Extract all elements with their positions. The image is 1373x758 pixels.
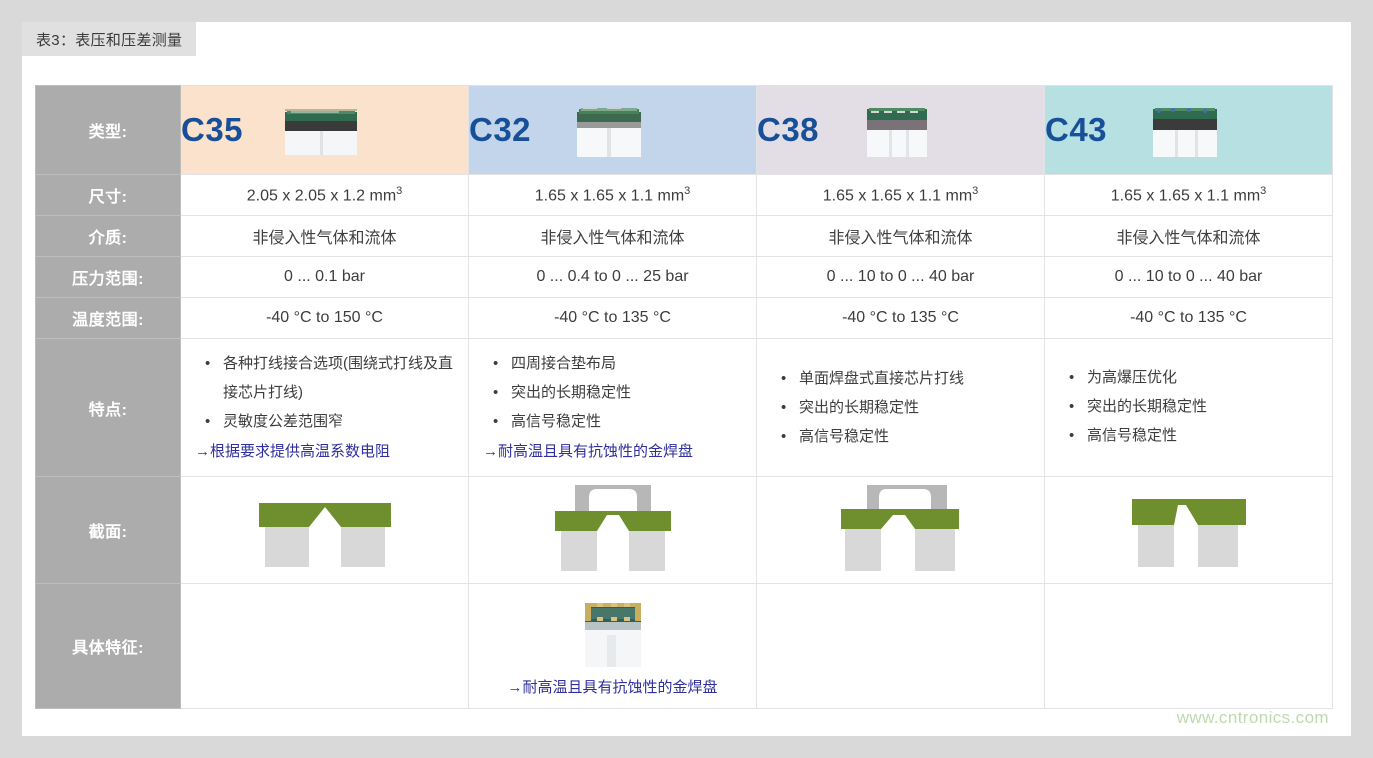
cell-pressure-c32: 0 ... 0.4 to 0 ... 25 bar xyxy=(469,257,757,298)
cell-cross-section-c32 xyxy=(469,477,757,584)
cell-size-c35: 2.05 x 2.05 x 1.2 mm3 xyxy=(181,175,469,216)
table-row-pressure: 压力范围: 0 ... 0.1 bar 0 ... 0.4 to 0 ... 2… xyxy=(36,257,1333,298)
row-label-specific: 具体特征: xyxy=(36,584,181,709)
header-cell-c38[interactable]: C38 xyxy=(757,86,1045,175)
list-item: 灵敏度公差范围窄 xyxy=(219,407,460,436)
row-label-temperature: 温度范围: xyxy=(36,298,181,339)
cell-features-c38: 单面焊盘式直接芯片打线 突出的长期稳定性 高信号稳定性 xyxy=(757,339,1045,477)
header-cell-c32[interactable]: C32 xyxy=(469,86,757,175)
list-item: 各种打线接合选项(围绕式打线及直接芯片打线) xyxy=(219,349,460,407)
list-item: 高信号稳定性 xyxy=(1083,421,1324,450)
row-label-features: 特点: xyxy=(36,339,181,477)
c43-sensor-photo xyxy=(1139,99,1231,161)
size-value-c32: 1.65 x 1.65 x 1.1 mm xyxy=(535,187,684,204)
table-row-type: 类型: C35 xyxy=(36,86,1333,175)
list-item: 突出的长期稳定性 xyxy=(507,378,748,407)
table-row-cross-section: 截面: xyxy=(36,477,1333,584)
type-name-c35: C35 xyxy=(181,111,243,149)
row-label-size: 尺寸: xyxy=(36,175,181,216)
cell-features-c43: 为高爆压优化 突出的长期稳定性 高信号稳定性 xyxy=(1045,339,1333,477)
feature-list-c32: 四周接合垫布局 突出的长期稳定性 高信号稳定性 xyxy=(493,349,748,436)
cell-pressure-c35: 0 ... 0.1 bar xyxy=(181,257,469,298)
list-item: 高信号稳定性 xyxy=(795,422,1036,451)
size-sup-c35: 3 xyxy=(396,185,402,197)
size-sup-c32: 3 xyxy=(684,185,690,197)
c32-cross-section-diagram xyxy=(543,485,683,576)
feature-note-c35: →根据要求提供高温系数电阻 xyxy=(195,438,460,466)
row-label-cross-section: 截面: xyxy=(36,477,181,584)
list-item: 突出的长期稳定性 xyxy=(795,393,1036,422)
cell-features-c35: 各种打线接合选项(围绕式打线及直接芯片打线) 灵敏度公差范围窄 →根据要求提供高… xyxy=(181,339,469,477)
cell-pressure-c43: 0 ... 10 to 0 ... 40 bar xyxy=(1045,257,1333,298)
table-caption-text: 表3：表压和压差测量 xyxy=(36,29,182,50)
cell-specific-c35 xyxy=(181,584,469,709)
row-label-pressure: 压力范围: xyxy=(36,257,181,298)
c38-cross-section-diagram xyxy=(831,485,971,576)
cell-cross-section-c38 xyxy=(757,477,1045,584)
cell-media-c35: 非侵入性气体和流体 xyxy=(181,216,469,257)
size-sup-c38: 3 xyxy=(972,185,978,197)
size-value-c38: 1.65 x 1.65 x 1.1 mm xyxy=(823,187,972,204)
table-page-card: 表3：表压和压差测量 类型: C35 xyxy=(22,22,1351,736)
feature-note-c32: →耐高温且具有抗蚀性的金焊盘 xyxy=(483,438,748,466)
c35-sensor-photo xyxy=(275,99,367,161)
list-item: 为高爆压优化 xyxy=(1083,363,1324,392)
cell-features-c32: 四周接合垫布局 突出的长期稳定性 高信号稳定性 →耐高温且具有抗蚀性的金焊盘 xyxy=(469,339,757,477)
c32-sensor-photo xyxy=(563,99,655,161)
c32-gold-pad-photo xyxy=(567,595,659,674)
list-item: 四周接合垫布局 xyxy=(507,349,748,378)
table-row-features: 特点: 各种打线接合选项(围绕式打线及直接芯片打线) 灵敏度公差范围窄 →根据要… xyxy=(36,339,1333,477)
size-value-c35: 2.05 x 2.05 x 1.2 mm xyxy=(247,187,396,204)
list-item: 突出的长期稳定性 xyxy=(1083,392,1324,421)
cell-temperature-c38: -40 °C to 135 °C xyxy=(757,298,1045,339)
c43-cross-section-diagram xyxy=(1124,489,1254,572)
c38-sensor-photo xyxy=(851,99,943,161)
header-cell-c35[interactable]: C35 xyxy=(181,86,469,175)
size-sup-c43: 3 xyxy=(1260,185,1266,197)
cell-temperature-c43: -40 °C to 135 °C xyxy=(1045,298,1333,339)
size-value-c43: 1.65 x 1.65 x 1.1 mm xyxy=(1111,187,1260,204)
cell-temperature-c32: -40 °C to 135 °C xyxy=(469,298,757,339)
cell-cross-section-c35 xyxy=(181,477,469,584)
row-label-media: 介质: xyxy=(36,216,181,257)
specific-note-c32: →耐高温且具有抗蚀性的金焊盘 xyxy=(473,676,752,697)
cell-media-c32: 非侵入性气体和流体 xyxy=(469,216,757,257)
cell-size-c43: 1.65 x 1.65 x 1.1 mm3 xyxy=(1045,175,1333,216)
header-cell-c43[interactable]: C43 xyxy=(1045,86,1333,175)
table-row-size: 尺寸: 2.05 x 2.05 x 1.2 mm3 1.65 x 1.65 x … xyxy=(36,175,1333,216)
table-row-media: 介质: 非侵入性气体和流体 非侵入性气体和流体 非侵入性气体和流体 非侵入性气体… xyxy=(36,216,1333,257)
feature-list-c43: 为高爆压优化 突出的长期稳定性 高信号稳定性 xyxy=(1069,363,1324,450)
cell-media-c43: 非侵入性气体和流体 xyxy=(1045,216,1333,257)
list-item: 单面焊盘式直接芯片打线 xyxy=(795,364,1036,393)
cell-media-c38: 非侵入性气体和流体 xyxy=(757,216,1045,257)
feature-list-c38: 单面焊盘式直接芯片打线 突出的长期稳定性 高信号稳定性 xyxy=(781,364,1036,451)
cell-specific-c32: →耐高温且具有抗蚀性的金焊盘 xyxy=(469,584,757,709)
cell-size-c32: 1.65 x 1.65 x 1.1 mm3 xyxy=(469,175,757,216)
list-item: 高信号稳定性 xyxy=(507,407,748,436)
feature-list-c35: 各种打线接合选项(围绕式打线及直接芯片打线) 灵敏度公差范围窄 xyxy=(205,349,460,436)
type-name-c32: C32 xyxy=(469,111,531,149)
cell-specific-c38 xyxy=(757,584,1045,709)
cell-cross-section-c43 xyxy=(1045,477,1333,584)
cell-size-c38: 1.65 x 1.65 x 1.1 mm3 xyxy=(757,175,1045,216)
table-row-temperature: 温度范围: -40 °C to 150 °C -40 °C to 135 °C … xyxy=(36,298,1333,339)
sensor-comparison-table: 类型: C35 xyxy=(35,85,1333,709)
cell-pressure-c38: 0 ... 10 to 0 ... 40 bar xyxy=(757,257,1045,298)
type-name-c38: C38 xyxy=(757,111,819,149)
site-watermark: www.cntronics.com xyxy=(1177,708,1329,728)
cell-temperature-c35: -40 °C to 150 °C xyxy=(181,298,469,339)
type-name-c43: C43 xyxy=(1045,111,1107,149)
c35-cross-section-diagram xyxy=(255,489,395,572)
cell-specific-c43 xyxy=(1045,584,1333,709)
row-label-type: 类型: xyxy=(36,86,181,175)
table-row-specific: 具体特征: xyxy=(36,584,1333,709)
table-caption-tab: 表3：表压和压差测量 xyxy=(22,22,196,56)
